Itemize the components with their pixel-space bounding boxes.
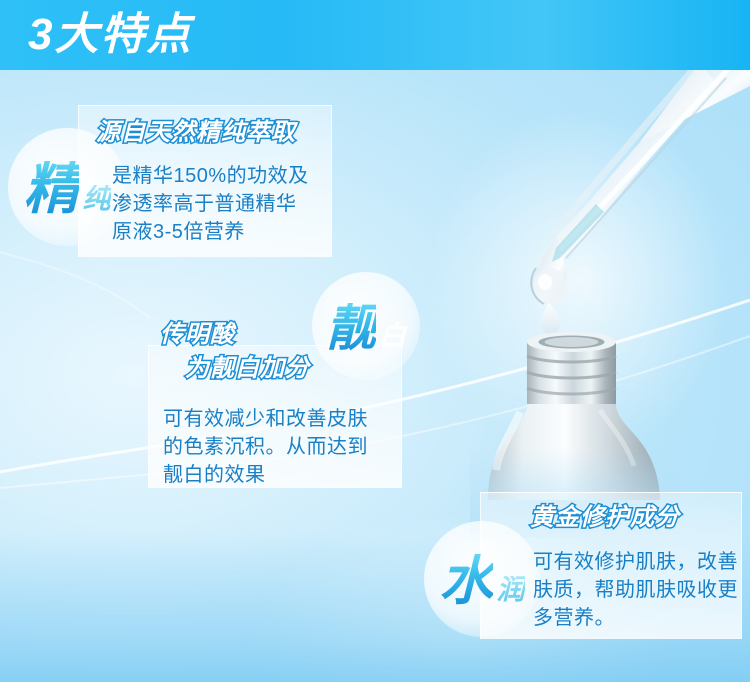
- feature-badge-1-sub: 纯: [82, 185, 110, 213]
- feature-body-2: 可有效减少和改善皮肤 的色素沉积。从而达到 靓白的效果: [163, 405, 368, 489]
- feature-badge-2: 靓 白: [312, 272, 420, 380]
- feature-heading-2: 传明酸 为靓白加分: [160, 318, 310, 386]
- feature-body-3: 可有效修护肌肤，改善 肤质，帮助肌肤吸收更 多营养。: [533, 548, 738, 632]
- feature-heading-3: 黄金修护成分: [530, 503, 680, 533]
- feature-badge-1-main: 精: [23, 161, 79, 217]
- page-title: 3大特点: [28, 6, 192, 64]
- product-feature-poster: 精 纯 源自天然精纯萃取 是精华150%的功效及 渗透率高于普通精华 原液3-5…: [0, 0, 750, 682]
- header-band: 3大特点: [0, 0, 750, 70]
- background-glow-right: [370, 40, 750, 520]
- feature-badge-2-sub: 白: [379, 323, 406, 350]
- feature-badge-3: 水 润: [424, 521, 540, 637]
- feature-badge-2-main: 靓: [326, 303, 376, 353]
- feature-heading-1: 源自天然精纯萃取: [96, 118, 296, 148]
- feature-badge-3-main: 水: [439, 554, 493, 608]
- feature-body-1: 是精华150%的功效及 渗透率高于普通精华 原液3-5倍营养: [112, 162, 309, 246]
- feature-badge-3-sub: 润: [496, 576, 524, 604]
